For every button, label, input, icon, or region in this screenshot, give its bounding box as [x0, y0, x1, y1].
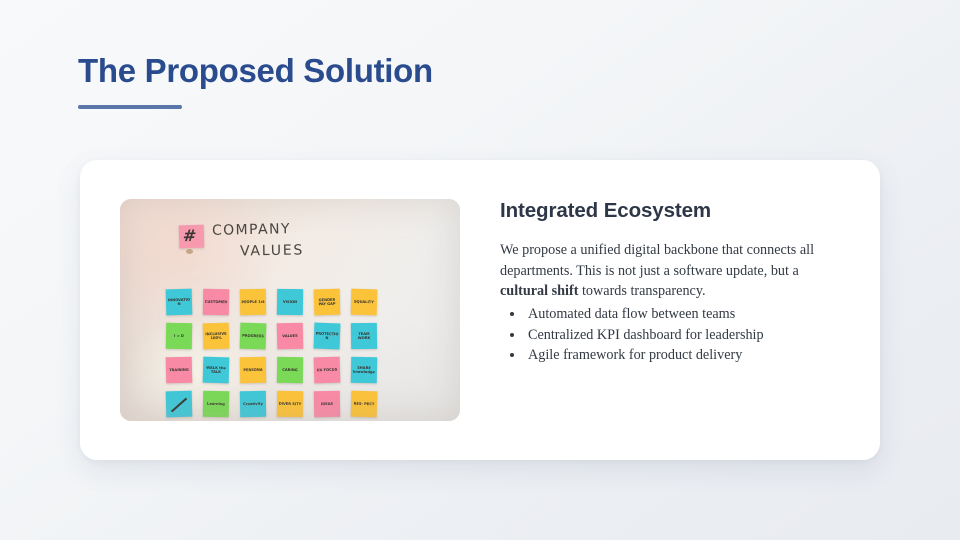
paragraph-emphasis: cultural shift	[500, 283, 578, 299]
page-title-block: The Proposed Solution	[78, 52, 433, 109]
page-title: The Proposed Solution	[78, 52, 433, 91]
paragraph-text-2: towards transparency.	[578, 283, 705, 299]
section-paragraph: We propose a unified digital backbone th…	[500, 240, 845, 302]
feature-bullet-list: Automated data flow between teamsCentral…	[500, 304, 845, 366]
slide-root: The Proposed Solution # COMPANY VALUES I…	[0, 0, 960, 540]
whiteboard-photo: # COMPANY VALUES INNOVATIONCUSTOMERPEOPL…	[120, 199, 460, 421]
title-underline-rule	[78, 105, 182, 109]
paragraph-text-1: We propose a unified digital backbone th…	[500, 242, 814, 279]
list-item: Automated data flow between teams	[525, 304, 845, 325]
card-text-column: Integrated Ecosystem We propose a unifie…	[500, 199, 845, 366]
section-heading: Integrated Ecosystem	[500, 199, 845, 223]
content-card: # COMPANY VALUES INNOVATIONCUSTOMERPEOPL…	[80, 160, 880, 460]
list-item: Centralized KPI dashboard for leadership	[525, 325, 845, 346]
photo-vignette	[120, 199, 460, 421]
list-item: Agile framework for product delivery	[525, 345, 845, 366]
